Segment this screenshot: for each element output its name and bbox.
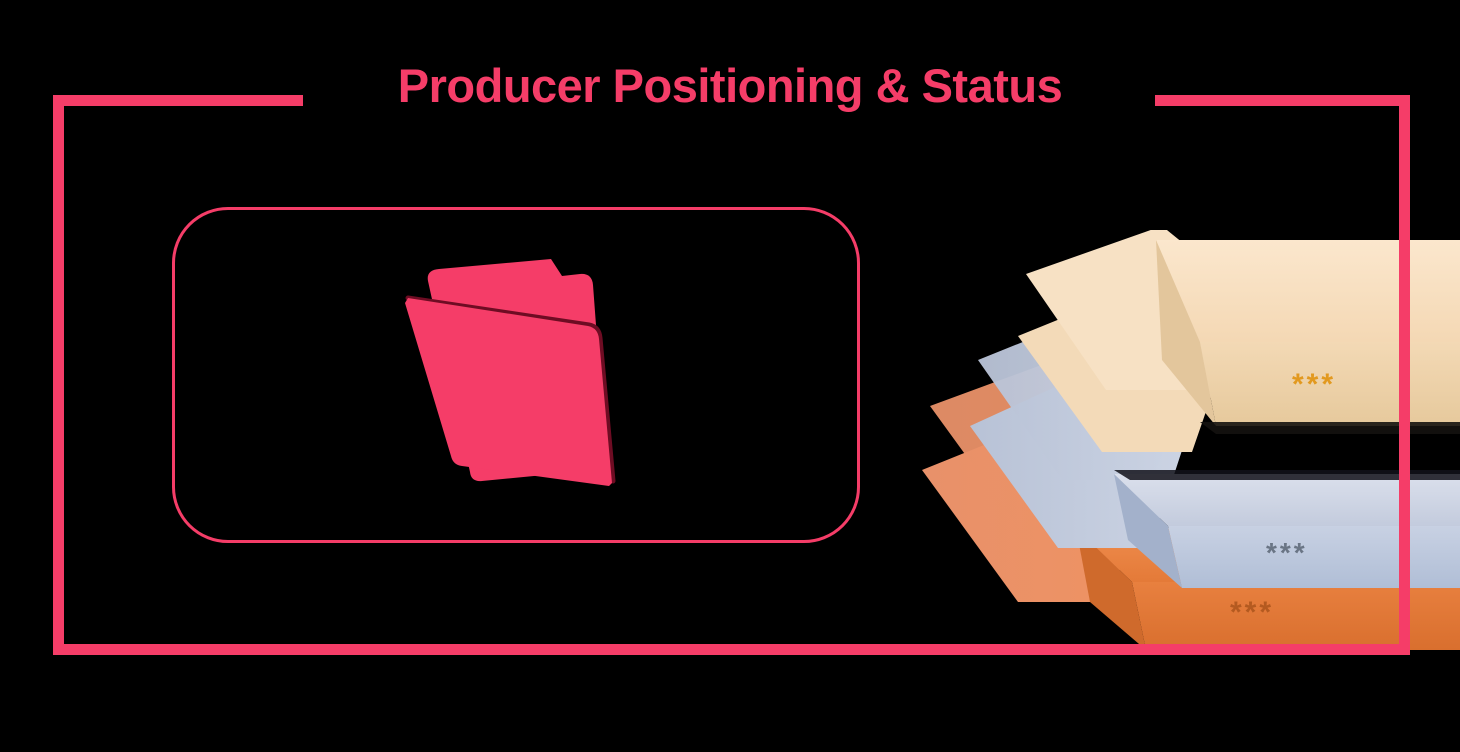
frame-segment-left xyxy=(53,95,64,655)
slide-canvas: Producer Positioning & Status xyxy=(0,0,1460,752)
page-title: Producer Positioning & Status xyxy=(0,62,1460,109)
folder-box-cream: *** xyxy=(1018,230,1460,452)
folder-marks-blue: *** xyxy=(1266,537,1308,568)
frame-segment-right-overlay xyxy=(1399,95,1410,655)
folder-icon xyxy=(366,245,666,505)
rounded-outline-card xyxy=(172,207,860,543)
frame-segment-bottom-overlay xyxy=(53,644,1410,655)
stacked-file-folders: *** *** xyxy=(900,230,1460,655)
folder-marks-cream: *** xyxy=(1292,368,1336,401)
folder-marks-orange: *** xyxy=(1230,596,1274,629)
